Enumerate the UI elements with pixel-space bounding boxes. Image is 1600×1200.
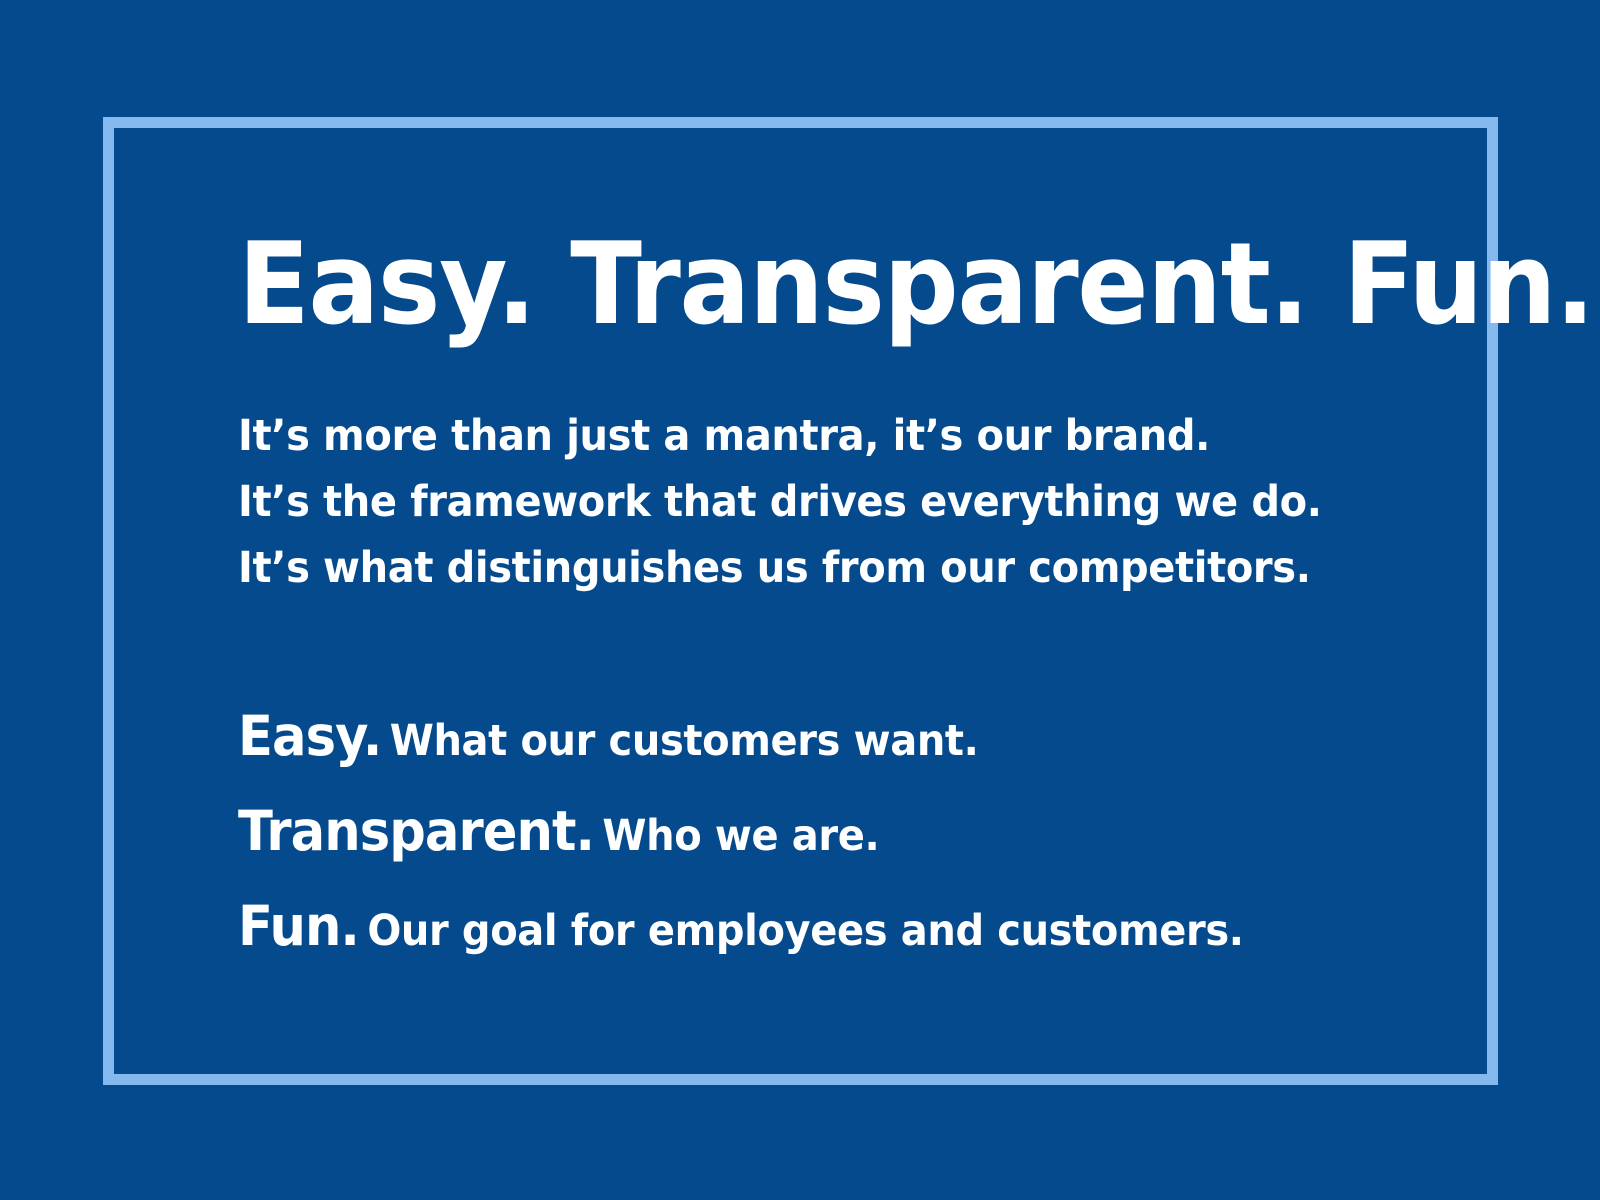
pillar-desc-transparent: Who we are. bbox=[594, 811, 879, 861]
pillar-word-easy: Easy. bbox=[238, 704, 381, 768]
pillar-word-fun: Fun. bbox=[238, 894, 359, 958]
pillar-desc-fun: Our goal for employees and customers. bbox=[359, 906, 1244, 956]
slide-canvas: Easy. Transparent. Fun. It’s more than j… bbox=[0, 0, 1600, 1200]
intro-paragraph: It’s more than just a mantra, it’s our b… bbox=[238, 341, 1418, 601]
pillar-item-easy: Easy.What our customers want. bbox=[238, 696, 1335, 791]
intro-line-1: It’s more than just a mantra, it’s our b… bbox=[238, 403, 1335, 469]
pillar-desc-easy: What our customers want. bbox=[381, 716, 978, 766]
pillar-item-transparent: Transparent.Who we are. bbox=[238, 791, 1335, 886]
pillar-item-fun: Fun.Our goal for employees and customers… bbox=[238, 886, 1335, 981]
intro-line-3: It’s what distinguishes us from our comp… bbox=[238, 535, 1335, 601]
intro-line-2: It’s the framework that drives everythin… bbox=[238, 469, 1335, 535]
pillar-list: Easy.What our customers want. Transparen… bbox=[238, 601, 1418, 981]
page-title: Easy. Transparent. Fun. bbox=[238, 228, 1335, 341]
slide-content: Easy. Transparent. Fun. It’s more than j… bbox=[238, 228, 1418, 981]
pillar-word-transparent: Transparent. bbox=[238, 799, 594, 863]
